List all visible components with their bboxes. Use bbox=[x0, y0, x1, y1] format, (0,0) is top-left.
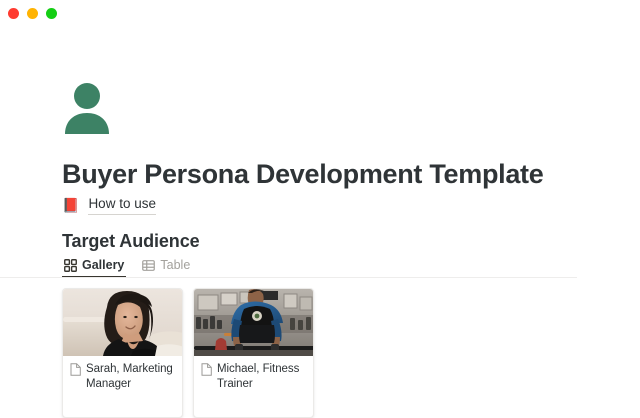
tab-gallery-label: Gallery bbox=[82, 258, 124, 272]
page-title[interactable]: Buyer Persona Development Template bbox=[62, 158, 602, 190]
maximize-window-button[interactable] bbox=[46, 8, 57, 19]
how-to-use-row[interactable]: 📕 How to use bbox=[62, 196, 156, 214]
gallery-card[interactable]: Sarah, Marketing Manager bbox=[62, 288, 183, 418]
tab-table-label: Table bbox=[160, 258, 190, 272]
card-cover-image bbox=[63, 289, 182, 356]
gallery-card[interactable]: Michael, Fitness Trainer bbox=[193, 288, 314, 418]
window-titlebar bbox=[0, 0, 640, 32]
section-title[interactable]: Target Audience bbox=[62, 230, 200, 252]
closed-book-emoji: 📕 bbox=[62, 196, 79, 214]
window-controls bbox=[8, 8, 57, 19]
gallery-view: Sarah, Marketing Manager bbox=[62, 288, 314, 418]
view-tabs: Gallery Table bbox=[62, 256, 192, 278]
gallery-grid-icon bbox=[64, 259, 77, 272]
tab-gallery[interactable]: Gallery bbox=[62, 257, 126, 278]
document-page: Buyer Persona Development Template 📕 How… bbox=[0, 32, 640, 400]
minimize-window-button[interactable] bbox=[27, 8, 38, 19]
card-cover-image bbox=[194, 289, 313, 356]
tabs-divider bbox=[0, 277, 577, 278]
page-document-icon bbox=[70, 363, 81, 381]
page-document-icon bbox=[201, 363, 212, 381]
how-to-use-link[interactable]: How to use bbox=[88, 195, 156, 215]
person-avatar-icon[interactable] bbox=[63, 82, 111, 136]
card-body: Michael, Fitness Trainer bbox=[194, 356, 313, 392]
card-title[interactable]: Sarah, Marketing Manager bbox=[86, 362, 174, 392]
card-title[interactable]: Michael, Fitness Trainer bbox=[217, 362, 305, 392]
table-grid-icon bbox=[142, 259, 155, 272]
close-window-button[interactable] bbox=[8, 8, 19, 19]
tab-table[interactable]: Table bbox=[140, 257, 192, 278]
card-body: Sarah, Marketing Manager bbox=[63, 356, 182, 392]
